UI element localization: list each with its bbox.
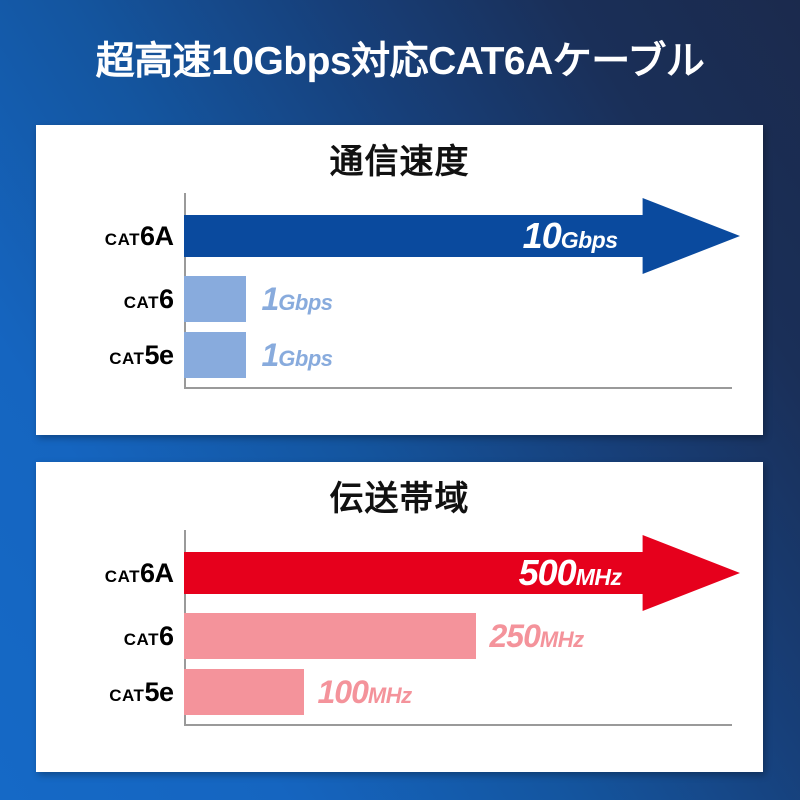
bar-cat5e <box>184 669 304 715</box>
value-unit: MHz <box>540 627 584 652</box>
bar-area-cat5e: 1Gbps <box>184 329 740 381</box>
chart-bandwidth: CAT6A 500MHz CAT6 <box>60 524 740 749</box>
chart-row-cat6: CAT6 250MHz <box>60 610 740 662</box>
value-label-cat6a: 10Gbps <box>523 218 618 254</box>
value-label-cat6a: 500MHz <box>519 555 622 591</box>
category-label-cat5e: CAT5e <box>60 342 184 369</box>
bar-cat6 <box>184 276 246 322</box>
chart-x-axis <box>184 387 732 389</box>
bar-cat6 <box>184 613 476 659</box>
category-label-cat6: CAT6 <box>60 623 184 650</box>
poster-header: 超高速10Gbps対応CAT6Aケーブル <box>0 0 800 122</box>
bar-area-cat5e: 100MHz <box>184 666 740 718</box>
chart-row-cat6a: CAT6A 500MHz <box>60 542 740 604</box>
arrow-bar-cat6a <box>184 535 740 611</box>
arrow-shape-icon <box>184 198 740 274</box>
panel-speed: 通信速度 CAT6A 10Gbps <box>36 125 763 435</box>
value-number: 500 <box>519 552 576 593</box>
category-label-cat6a: CAT6A <box>60 223 184 250</box>
chart-row-cat6: CAT6 1Gbps <box>60 273 740 325</box>
bar-cat5e <box>184 332 246 378</box>
chart-row-cat6a: CAT6A 10Gbps <box>60 205 740 267</box>
category-value: 6 <box>159 284 174 314</box>
value-number: 250 <box>490 618 540 654</box>
page-title: 超高速10Gbps対応CAT6Aケーブル <box>96 42 705 81</box>
value-unit: Gbps <box>278 290 332 315</box>
bar-area-cat6: 1Gbps <box>184 273 740 325</box>
category-value: 6A <box>140 558 174 588</box>
panel-bandwidth: 伝送帯域 CAT6A 500MHz <box>36 462 763 772</box>
value-label-cat6: 1Gbps <box>262 283 333 315</box>
category-value: 5e <box>144 677 173 707</box>
category-prefix: CAT <box>124 293 159 312</box>
bar-area-cat6a: 10Gbps <box>184 205 740 267</box>
category-prefix: CAT <box>109 349 144 368</box>
chart-row-cat5e: CAT5e 1Gbps <box>60 329 740 381</box>
bar-area-cat6a: 500MHz <box>184 542 740 604</box>
chart-row-cat5e: CAT5e 100MHz <box>60 666 740 718</box>
category-prefix: CAT <box>105 230 140 249</box>
value-label-cat5e: 100MHz <box>318 676 412 708</box>
value-unit: MHz <box>576 564 622 590</box>
arrow-bar-cat6a <box>184 198 740 274</box>
category-value: 6 <box>159 621 174 651</box>
category-prefix: CAT <box>105 567 140 586</box>
value-unit: Gbps <box>278 346 332 371</box>
value-number: 1 <box>262 337 279 373</box>
value-number: 100 <box>318 674 368 710</box>
value-unit: Gbps <box>561 227 618 253</box>
category-label-cat6: CAT6 <box>60 286 184 313</box>
value-number: 1 <box>262 281 279 317</box>
arrow-shape-icon <box>184 535 740 611</box>
category-label-cat6a: CAT6A <box>60 560 184 587</box>
panel-title-speed: 通信速度 <box>36 125 763 187</box>
category-prefix: CAT <box>109 686 144 705</box>
value-label-cat5e: 1Gbps <box>262 339 333 371</box>
bar-area-cat6: 250MHz <box>184 610 740 662</box>
value-label-cat6: 250MHz <box>490 620 584 652</box>
value-number: 10 <box>523 215 561 256</box>
category-prefix: CAT <box>124 630 159 649</box>
panel-title-bandwidth: 伝送帯域 <box>36 462 763 524</box>
chart-speed: CAT6A 10Gbps CAT6 <box>60 187 740 412</box>
chart-x-axis <box>184 724 732 726</box>
poster-canvas: 超高速10Gbps対応CAT6Aケーブル 通信速度 CAT6A <box>0 0 800 800</box>
category-label-cat5e: CAT5e <box>60 679 184 706</box>
value-unit: MHz <box>368 683 412 708</box>
category-value: 6A <box>140 221 174 251</box>
category-value: 5e <box>144 340 173 370</box>
